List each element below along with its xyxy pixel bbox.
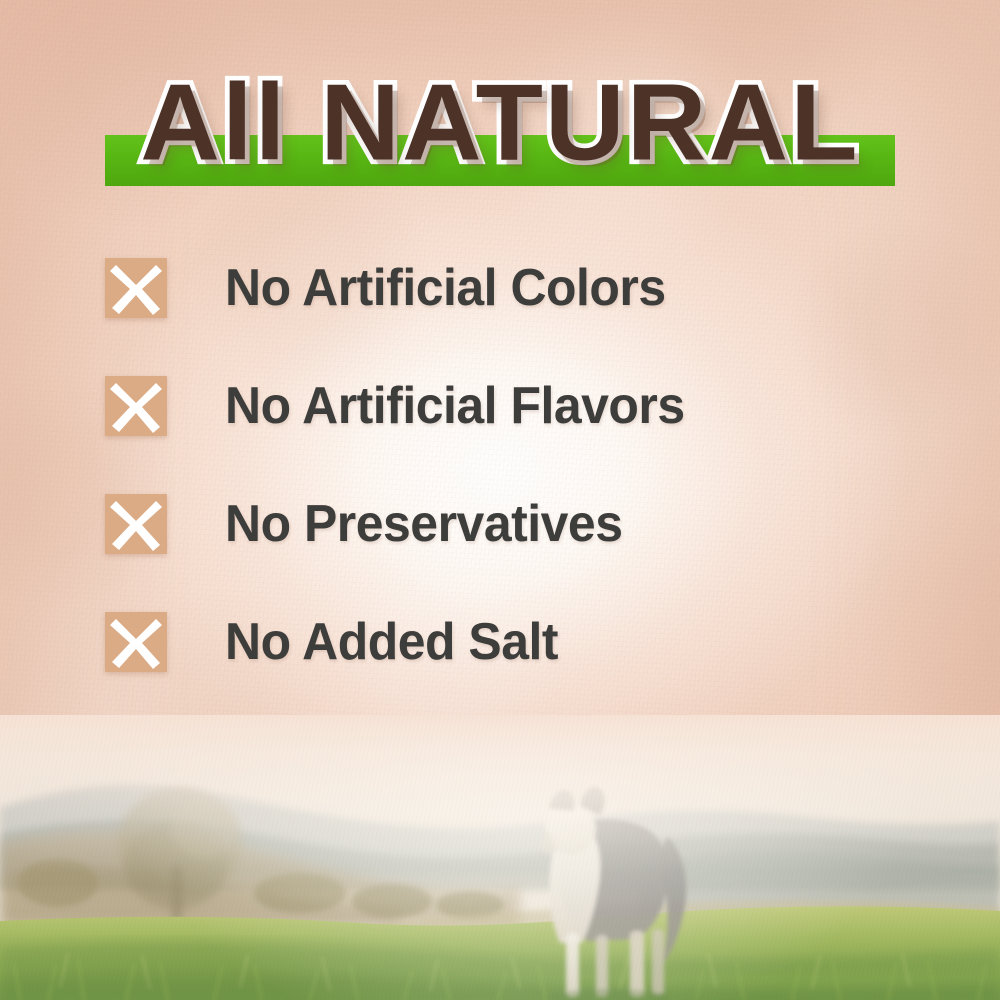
x-mark-glyph	[105, 258, 167, 318]
x-mark-icon	[105, 376, 167, 436]
x-mark-glyph	[105, 494, 167, 554]
list-item: No Artificial Colors	[105, 258, 925, 318]
list-item: No Preservatives	[105, 494, 925, 554]
list-item: No Artificial Flavors	[105, 376, 925, 436]
x-mark-glyph	[105, 612, 167, 672]
list-item-label: No Preservatives	[225, 494, 622, 554]
list-item-label: No Artificial Flavors	[225, 376, 685, 436]
x-mark-icon	[105, 494, 167, 554]
list-item: No Added Salt	[105, 612, 925, 672]
page-title: All NATURAL	[0, 60, 1000, 187]
landscape-photo	[0, 715, 1000, 1000]
landscape-illustration	[0, 715, 1000, 1000]
x-mark-icon	[105, 258, 167, 318]
list-item-label: No Artificial Colors	[225, 258, 666, 318]
claims-list: No Artificial Colors No Artificial Flavo…	[105, 258, 925, 672]
banner: All NATURAL	[0, 62, 1000, 207]
x-mark-icon	[105, 612, 167, 672]
product-feature-graphic: All NATURAL No Artificial Colors No Arti…	[0, 0, 1000, 1000]
x-mark-glyph	[105, 376, 167, 436]
list-item-label: No Added Salt	[225, 612, 558, 672]
